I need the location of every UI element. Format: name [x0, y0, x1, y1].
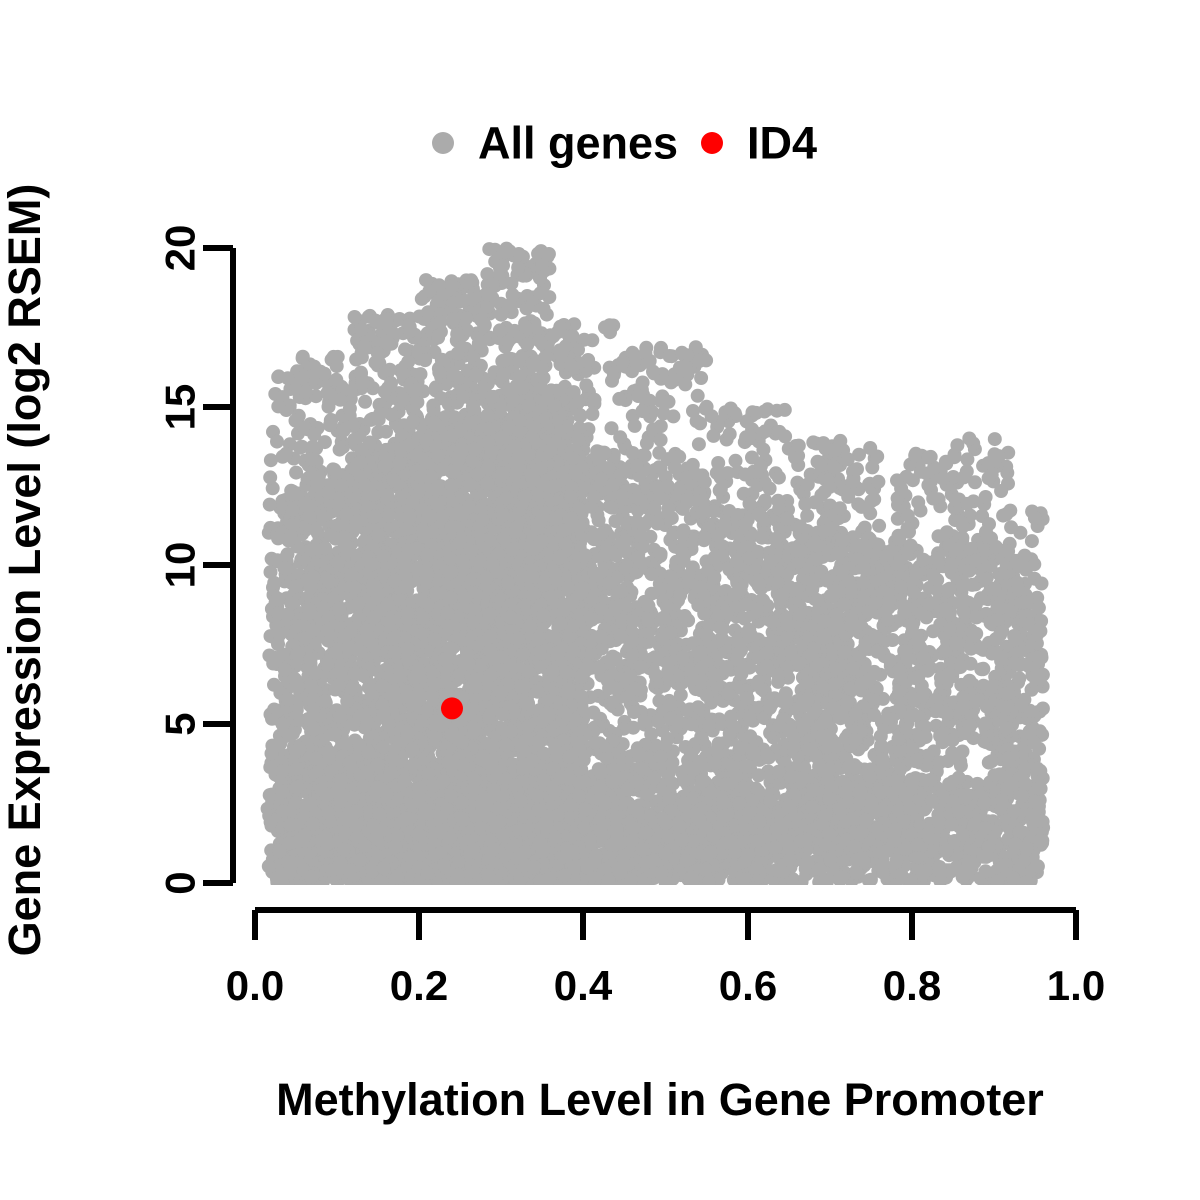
y-tick-label-5: 5 — [157, 712, 204, 735]
x-tick-label-04: 0.4 — [554, 962, 613, 1009]
gray-dot-marker-icon — [432, 132, 454, 154]
y-tick-label-0: 0 — [157, 871, 204, 894]
x-axis-title: Methylation Level in Gene Promoter — [276, 1074, 1044, 1125]
legend-label-all-genes: All genes — [478, 118, 678, 169]
x-tick-label-06: 0.6 — [719, 962, 777, 1009]
y-tick-label-15: 15 — [157, 384, 204, 431]
y-axis-title: Gene Expression Level (log2 RSEM) — [0, 184, 50, 957]
x-tick-label-02: 0.2 — [390, 962, 448, 1009]
red-dot-marker-icon — [701, 132, 723, 154]
id4-point-marker — [441, 697, 463, 719]
legend: All genes ID4 — [432, 118, 817, 169]
legend-label-id4: ID4 — [747, 118, 817, 169]
y-tick-label-10: 10 — [157, 542, 204, 589]
x-tick-label-0: 0.0 — [226, 962, 284, 1009]
x-tick-label-08: 0.8 — [883, 962, 941, 1009]
y-tick-label-20: 20 — [157, 225, 204, 272]
plot-canvas: 0 5 10 15 20 0.0 0.2 0.4 0.6 0.8 1.0 Gen… — [0, 0, 1200, 1200]
x-tick-label-10: 1.0 — [1047, 962, 1105, 1009]
scatter-plot-figure: 0 5 10 15 20 0.0 0.2 0.4 0.6 0.8 1.0 Gen… — [0, 0, 1200, 1200]
